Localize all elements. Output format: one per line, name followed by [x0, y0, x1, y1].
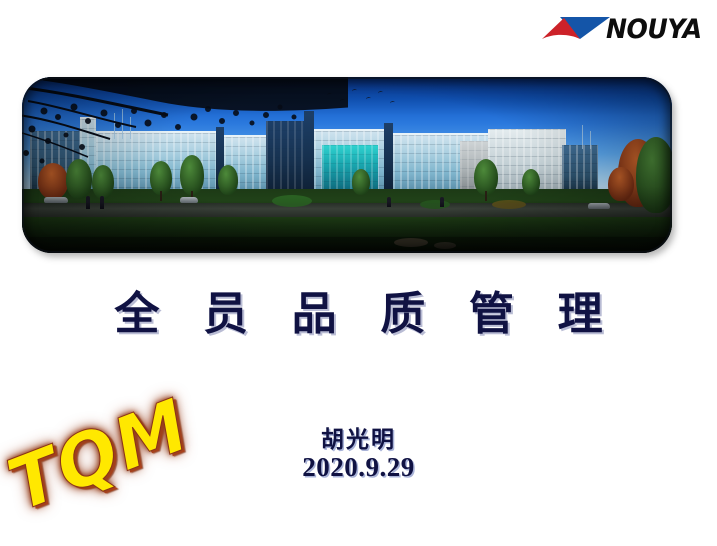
tqm-wordart-text: TQM	[0, 383, 200, 528]
nouya-logo-mark-icon	[540, 9, 612, 49]
page-title: 全 员 品 质 管 理	[0, 277, 717, 342]
tqm-wordart: TQM	[8, 424, 218, 546]
brand-name: NOUYA	[606, 16, 702, 43]
presentation-slide: NOUYA	[0, 0, 717, 546]
photo-content	[22, 77, 672, 253]
photo-vignette	[22, 77, 672, 253]
brand-logo: NOUYA	[539, 6, 709, 52]
factory-campus-photo	[22, 77, 672, 253]
